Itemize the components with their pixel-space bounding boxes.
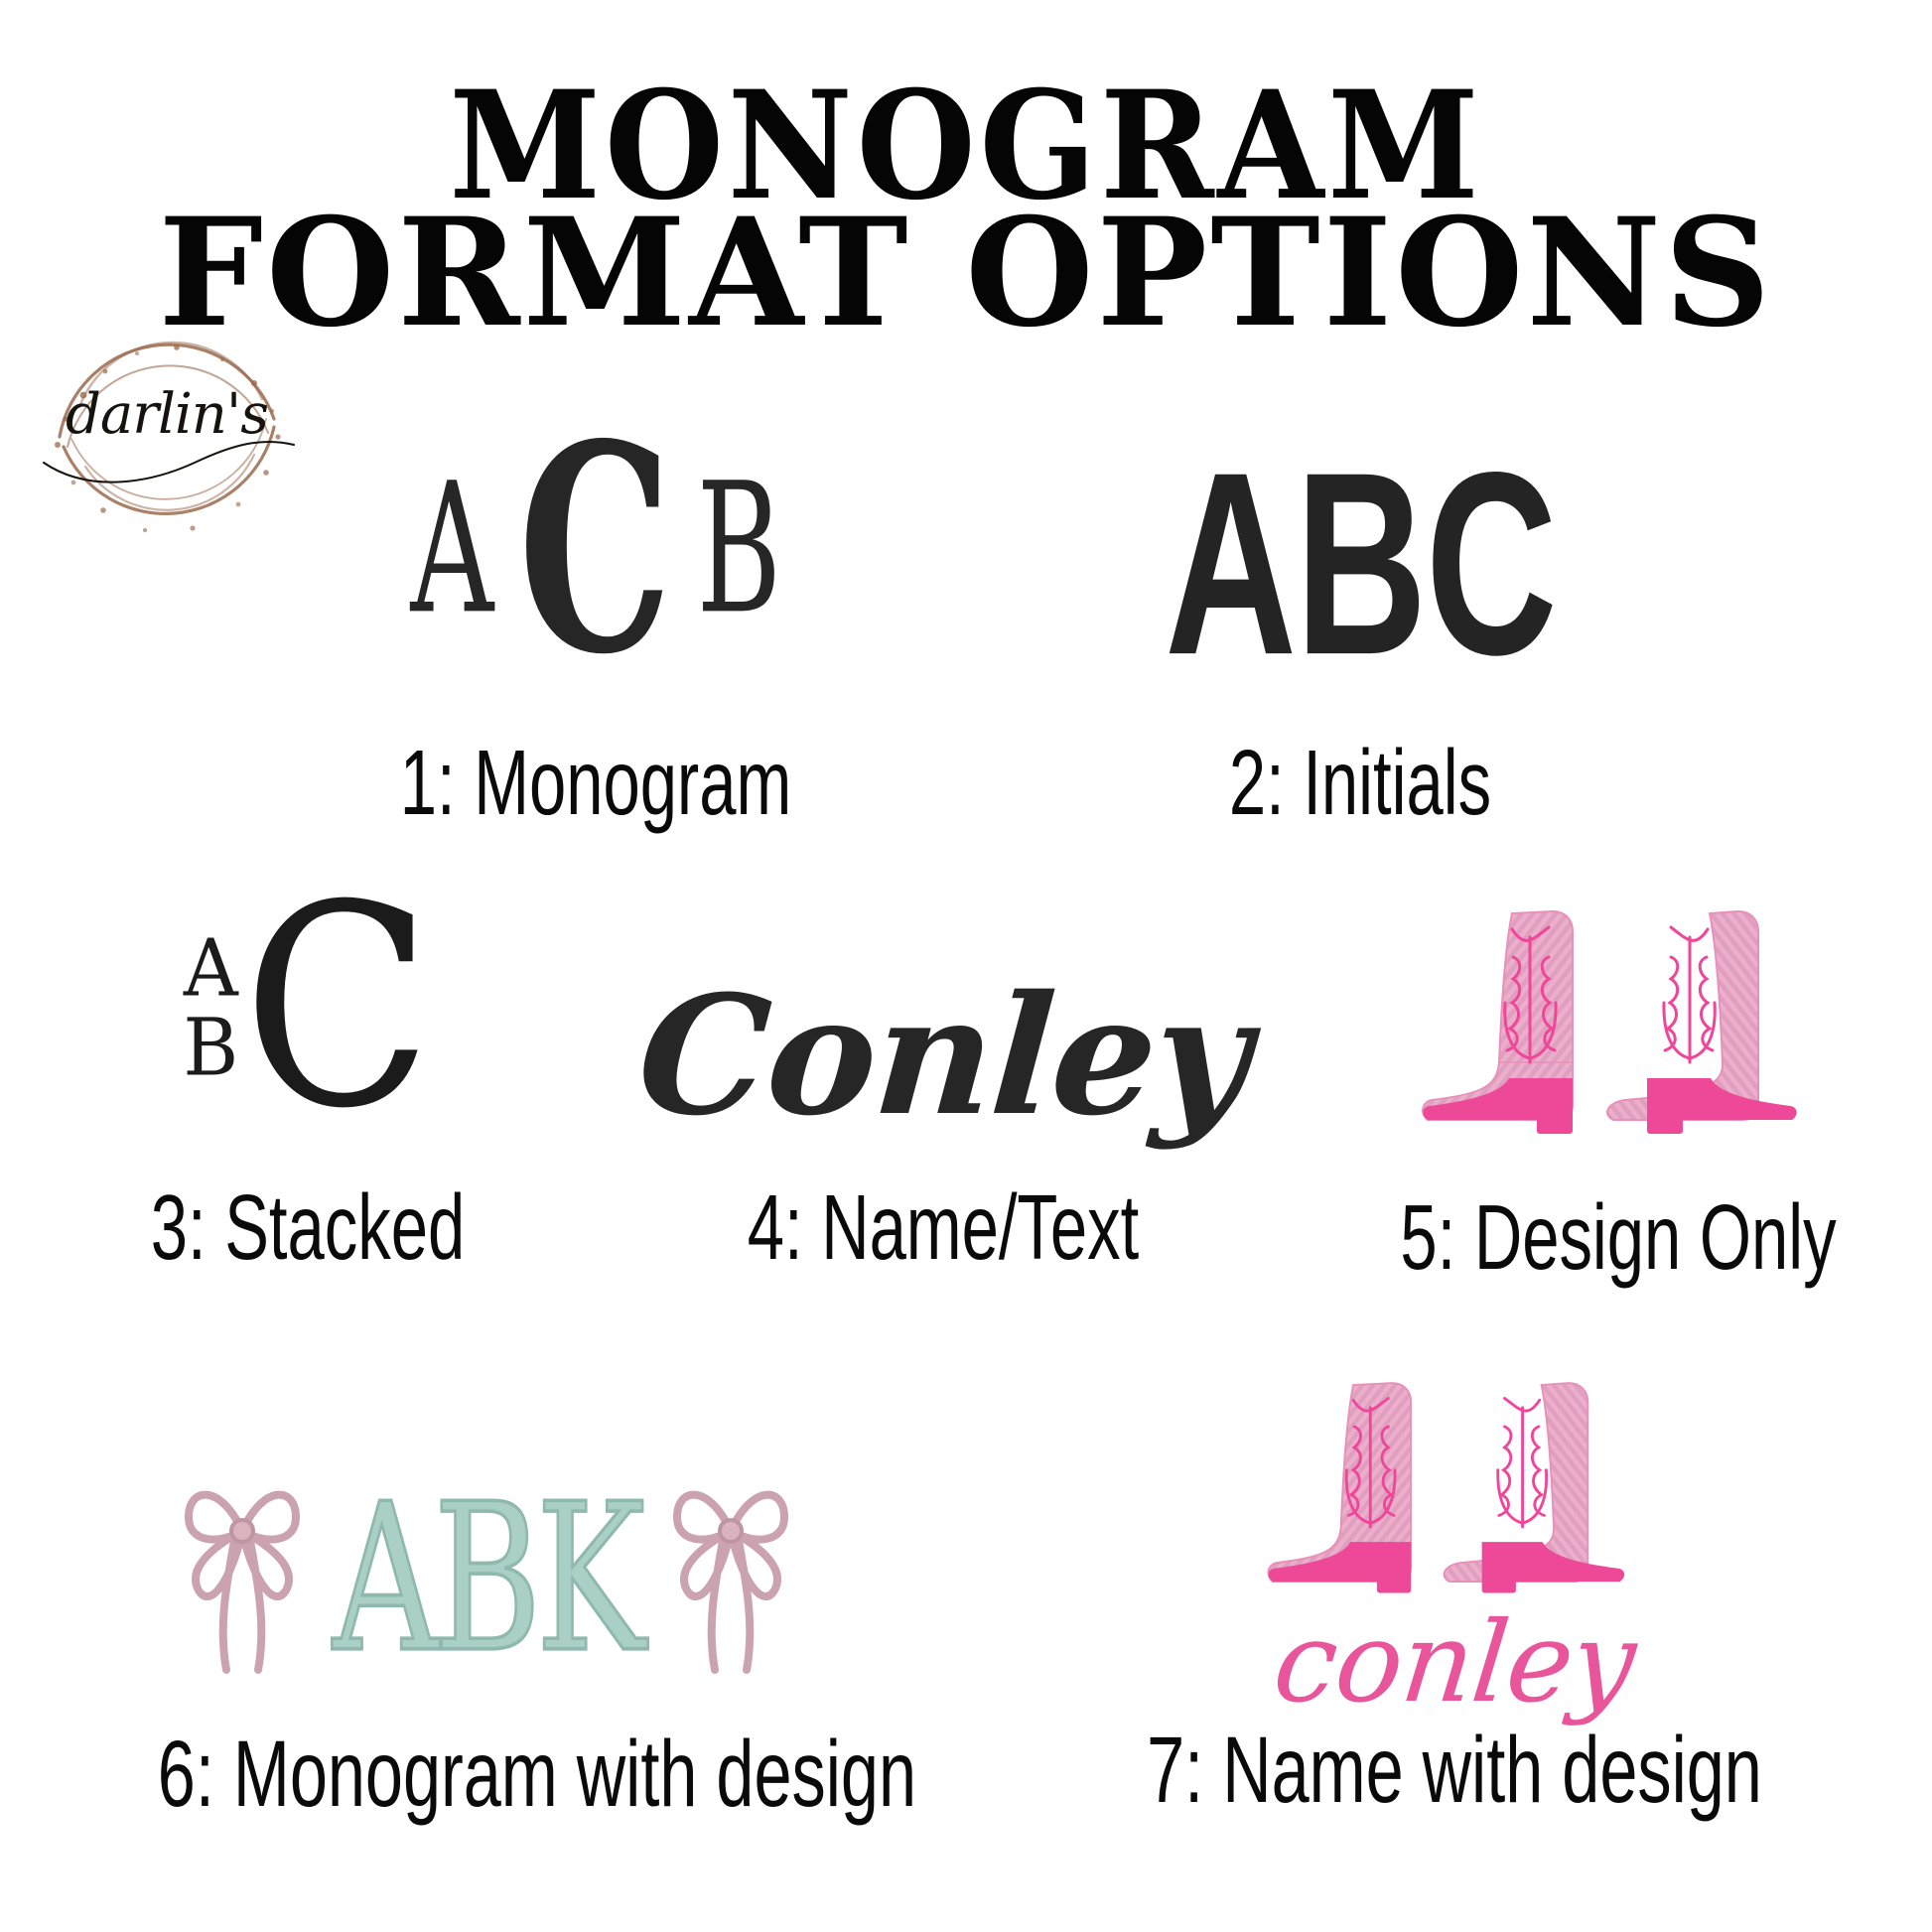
monogram-letter-left: A <box>410 444 493 653</box>
classic-monogram-acb-art: A C B <box>228 467 963 695</box>
option-4-name-text[interactable]: Conley 4: Name/Text <box>596 903 1291 1274</box>
script-name-art: Conley <box>596 903 1291 1152</box>
option-6-monogram-with-design[interactable]: ABK 6: Monogram with design <box>30 1420 943 1822</box>
stacked-letter-a: A <box>184 926 238 1010</box>
bow-monogram-letter-a: A <box>333 1459 433 1697</box>
option-5-caption: 5: Design Only <box>1390 1191 1848 1284</box>
script-name-conley: Conley <box>632 959 1254 1152</box>
initial-b: B <box>1295 418 1425 709</box>
option-6-caption: 6: Monogram with design <box>158 1727 815 1822</box>
initials-abc-art: ABC <box>993 467 1727 695</box>
bow-icon-left <box>173 1440 312 1718</box>
option-3-caption: 3: Stacked <box>86 1181 529 1274</box>
monogram-letter-right: B <box>696 444 780 653</box>
initial-c: C <box>1426 418 1556 709</box>
option-1-monogram[interactable]: A C B 1: Monogram <box>228 467 963 829</box>
monogram-letter-center: C <box>517 381 671 717</box>
stacked-letter-c: C <box>242 846 432 1170</box>
cowboy-boots-design-art <box>1301 894 1932 1162</box>
option-7-name-with-design[interactable]: conley 7: Name with design <box>993 1360 1916 1818</box>
stacked-letters: A B C <box>183 863 432 1152</box>
initials-letters: ABC <box>1165 413 1556 713</box>
bow-monogram-letter-b: B <box>433 1459 535 1697</box>
monogram-with-bows-art: ABK <box>30 1420 943 1718</box>
option-2-initials[interactable]: ABC 2: Initials <box>993 467 1727 829</box>
option-7-caption: 7: Name with design <box>1122 1724 1787 1818</box>
option-3-stacked[interactable]: A B C 3: Stacked <box>0 903 616 1274</box>
monogram-letters: A C B <box>400 403 791 695</box>
initial-a: A <box>1165 418 1295 709</box>
cowboy-boots-icon <box>1410 894 1827 1162</box>
boots-with-name-art: conley <box>993 1360 1916 1718</box>
option-5-design-only[interactable]: 5: Design Only <box>1301 894 1932 1284</box>
bead-script-name-conley: conley <box>986 1598 1923 1727</box>
option-4-caption: 4: Name/Text <box>693 1181 1193 1274</box>
option-2-caption: 2: Initials <box>1096 737 1625 829</box>
brand-name: darlin's <box>28 382 306 447</box>
monogram-letters-abk: ABK <box>333 1459 640 1697</box>
monogram-bow-group: ABK <box>173 1440 800 1718</box>
stacked-letter-b: B <box>183 1006 238 1089</box>
option-1-caption: 1: Monogram <box>332 737 861 829</box>
stacked-small-column: A B <box>183 928 238 1087</box>
bow-icon-right <box>661 1440 800 1718</box>
stacked-monogram-art: A B C <box>0 903 616 1152</box>
cowboy-boots-icon-small <box>1256 1360 1653 1608</box>
bow-monogram-letter-k: K <box>536 1459 640 1697</box>
